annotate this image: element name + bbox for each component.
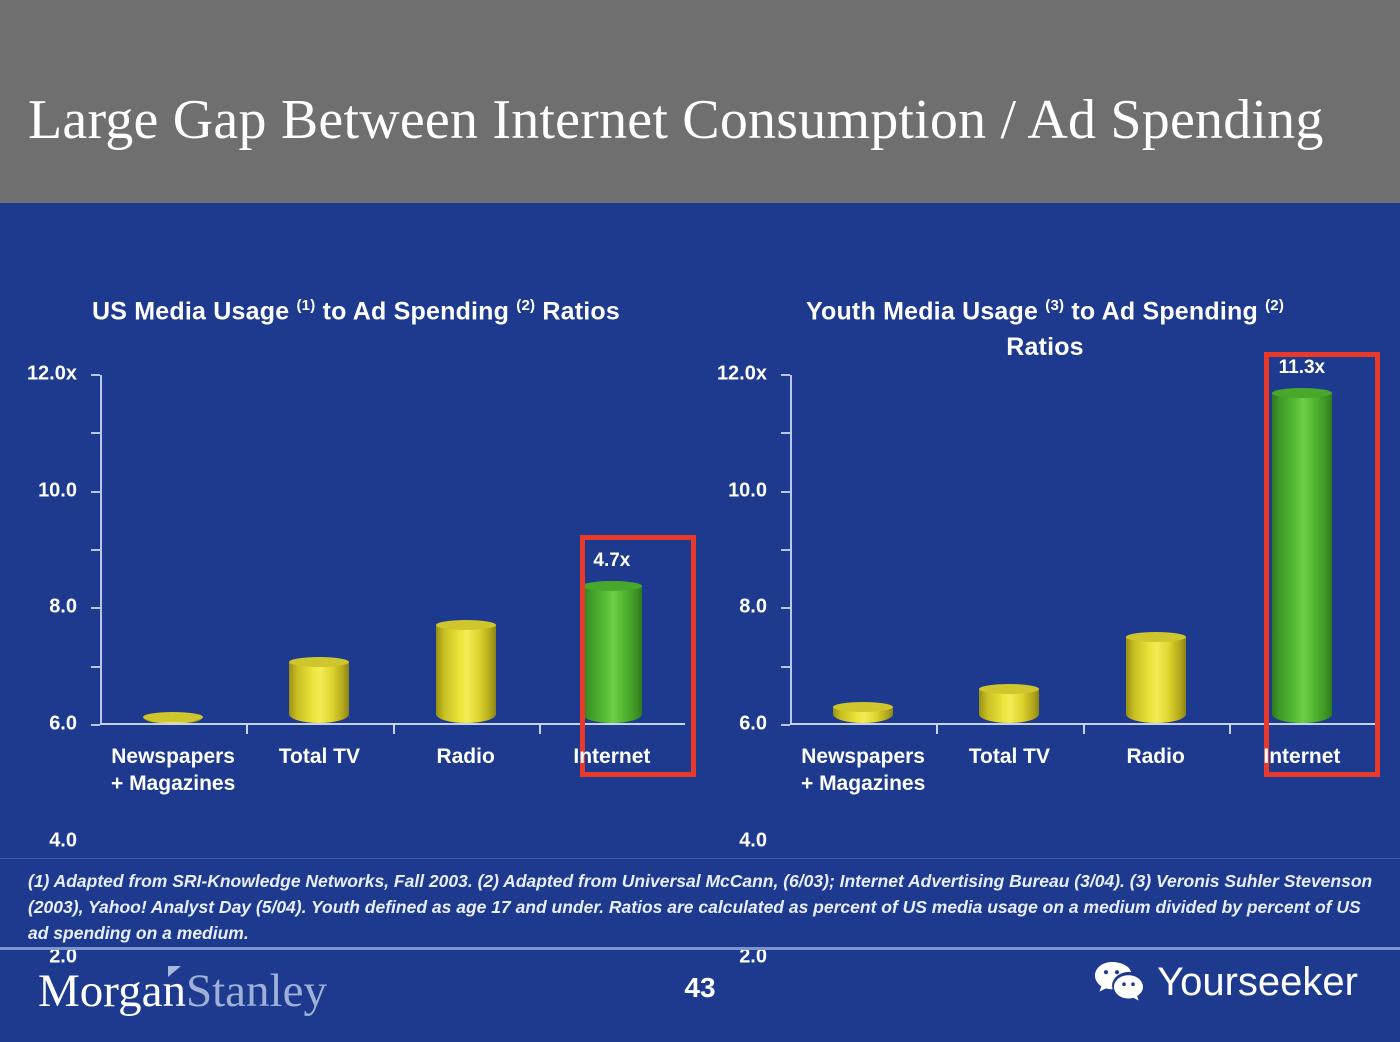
chart-title-us-media: US Media Usage (1) to Ad Spending (2) Ra… (10, 288, 700, 329)
bar-radio (436, 625, 496, 723)
brand-watermark: Yourseeker (1093, 958, 1358, 1006)
slide-canvas: Large Gap Between Internet Consumption /… (0, 0, 1400, 1042)
y-axis-tick-label: 12.0x (717, 363, 767, 386)
chart-title-text-part2: to Ad Spending (1071, 297, 1258, 325)
footnote-ref-2: (2) (516, 297, 535, 314)
chart-title-text-part3: Ratios (542, 297, 620, 325)
bar-total-tv (979, 689, 1039, 723)
y-axis-tick-label: 6.0 (739, 713, 767, 736)
chart-panel-us-media: US Media Usage (1) to Ad Spending (2) Ra… (10, 210, 700, 830)
y-axis-tick: 12.0x (91, 374, 100, 376)
x-axis-category-label: Total TV (279, 743, 360, 770)
y-axis-tick: 6.0 (91, 549, 100, 551)
page-title: Large Gap Between Internet Consumption /… (28, 88, 1388, 152)
y-axis-tick: 6.0 (781, 549, 790, 551)
x-axis-category-line: Newspapers (801, 743, 925, 770)
y-axis-tick-label: 4.0 (49, 829, 77, 852)
bar-cap (289, 657, 349, 667)
y-axis-tick: 0.0 (781, 724, 790, 726)
x-axis-category-label: Total TV (969, 743, 1050, 770)
x-axis-category-label: Radio (1126, 743, 1184, 770)
bar-body (1126, 637, 1186, 723)
y-axis-tick-label: 10.0 (38, 479, 77, 502)
x-axis-category-line: Internet (573, 743, 650, 770)
bar-total-tv (289, 662, 349, 723)
x-axis-category-line: Total TV (969, 743, 1050, 770)
footnote-ref-1: (1) (296, 297, 315, 314)
x-axis-category-label: Newspapers+ Magazines (801, 743, 925, 797)
slide-footer: MorganStanley 43 Yourseeker (0, 950, 1400, 1042)
y-axis-tick: 0.0 (91, 724, 100, 726)
brand-name: Yourseeker (1157, 958, 1358, 1006)
footnote-ref-2: (2) (1265, 297, 1284, 314)
x-axis-category-line: + Magazines (111, 770, 235, 797)
x-axis-category-line: Internet (1263, 743, 1340, 770)
bar-body (289, 662, 349, 723)
bar-cap (143, 712, 203, 722)
bar-radio (1126, 637, 1186, 723)
y-axis-tick: 10.0 (91, 432, 100, 434)
chart-panel-youth-media: Youth Media Usage (3) to Ad Spending (2)… (700, 210, 1390, 830)
x-axis-category-label: Newspapers+ Magazines (111, 743, 235, 797)
y-axis-tick-label: 4.0 (739, 829, 767, 852)
highlight-box-internet-youth (1264, 352, 1380, 777)
x-axis-tick (936, 725, 938, 734)
bar-newspapers-magazines (833, 707, 893, 723)
footnote-divider (0, 858, 1400, 859)
x-axis-category-label: Internet (573, 743, 650, 770)
x-axis-category-line: Total TV (279, 743, 360, 770)
y-axis-tick: 12.0x (781, 374, 790, 376)
y-axis-tick: 4.0 (781, 607, 790, 609)
bar-cap (833, 702, 893, 712)
y-axis-tick-label: 6.0 (49, 713, 77, 736)
y-axis-line (790, 375, 792, 725)
y-axis-tick: 4.0 (91, 607, 100, 609)
x-axis-category-line: + Magazines (801, 770, 925, 797)
chart-title-text-part1: Youth Media Usage (806, 297, 1038, 325)
bar-cap (1126, 632, 1186, 642)
chart-title-text-part3: Ratios (1006, 333, 1084, 361)
bar-body (979, 689, 1039, 723)
footnote-ref-3: (3) (1045, 297, 1064, 314)
x-axis-category-line: Radio (436, 743, 494, 770)
x-axis-tick (539, 725, 541, 734)
y-axis-tick: 8.0 (781, 491, 790, 493)
x-axis-tick (393, 725, 395, 734)
x-axis-category-line: Radio (1126, 743, 1184, 770)
x-axis-tick (246, 725, 248, 734)
y-axis-tick: 8.0 (91, 491, 100, 493)
x-axis-category-label: Radio (436, 743, 494, 770)
y-axis-tick: 2.0 (781, 666, 790, 668)
x-axis-category-label: Internet (1263, 743, 1340, 770)
y-axis-tick: 2.0 (91, 666, 100, 668)
y-axis-line (100, 375, 102, 725)
footnotes-text: (1) Adapted from SRI-Knowledge Networks,… (28, 868, 1373, 946)
wechat-icon (1093, 960, 1145, 1004)
y-axis-tick-label: 8.0 (49, 596, 77, 619)
y-axis-tick-label: 8.0 (739, 596, 767, 619)
x-axis-category-line: Newspapers (111, 743, 235, 770)
highlight-box-internet-us (580, 535, 696, 777)
chart-title-text-part1: US Media Usage (92, 297, 289, 325)
y-axis-tick-label: 12.0x (27, 363, 77, 386)
bar-cap (979, 684, 1039, 694)
bar-newspapers-magazines (143, 717, 203, 723)
x-axis-tick (1229, 725, 1231, 734)
chart-title-text-part2: to Ad Spending (323, 297, 510, 325)
bar-cap (436, 620, 496, 630)
x-axis-tick (1083, 725, 1085, 734)
bar-body (436, 625, 496, 723)
y-axis-tick-label: 10.0 (728, 479, 767, 502)
y-axis-tick: 10.0 (781, 432, 790, 434)
